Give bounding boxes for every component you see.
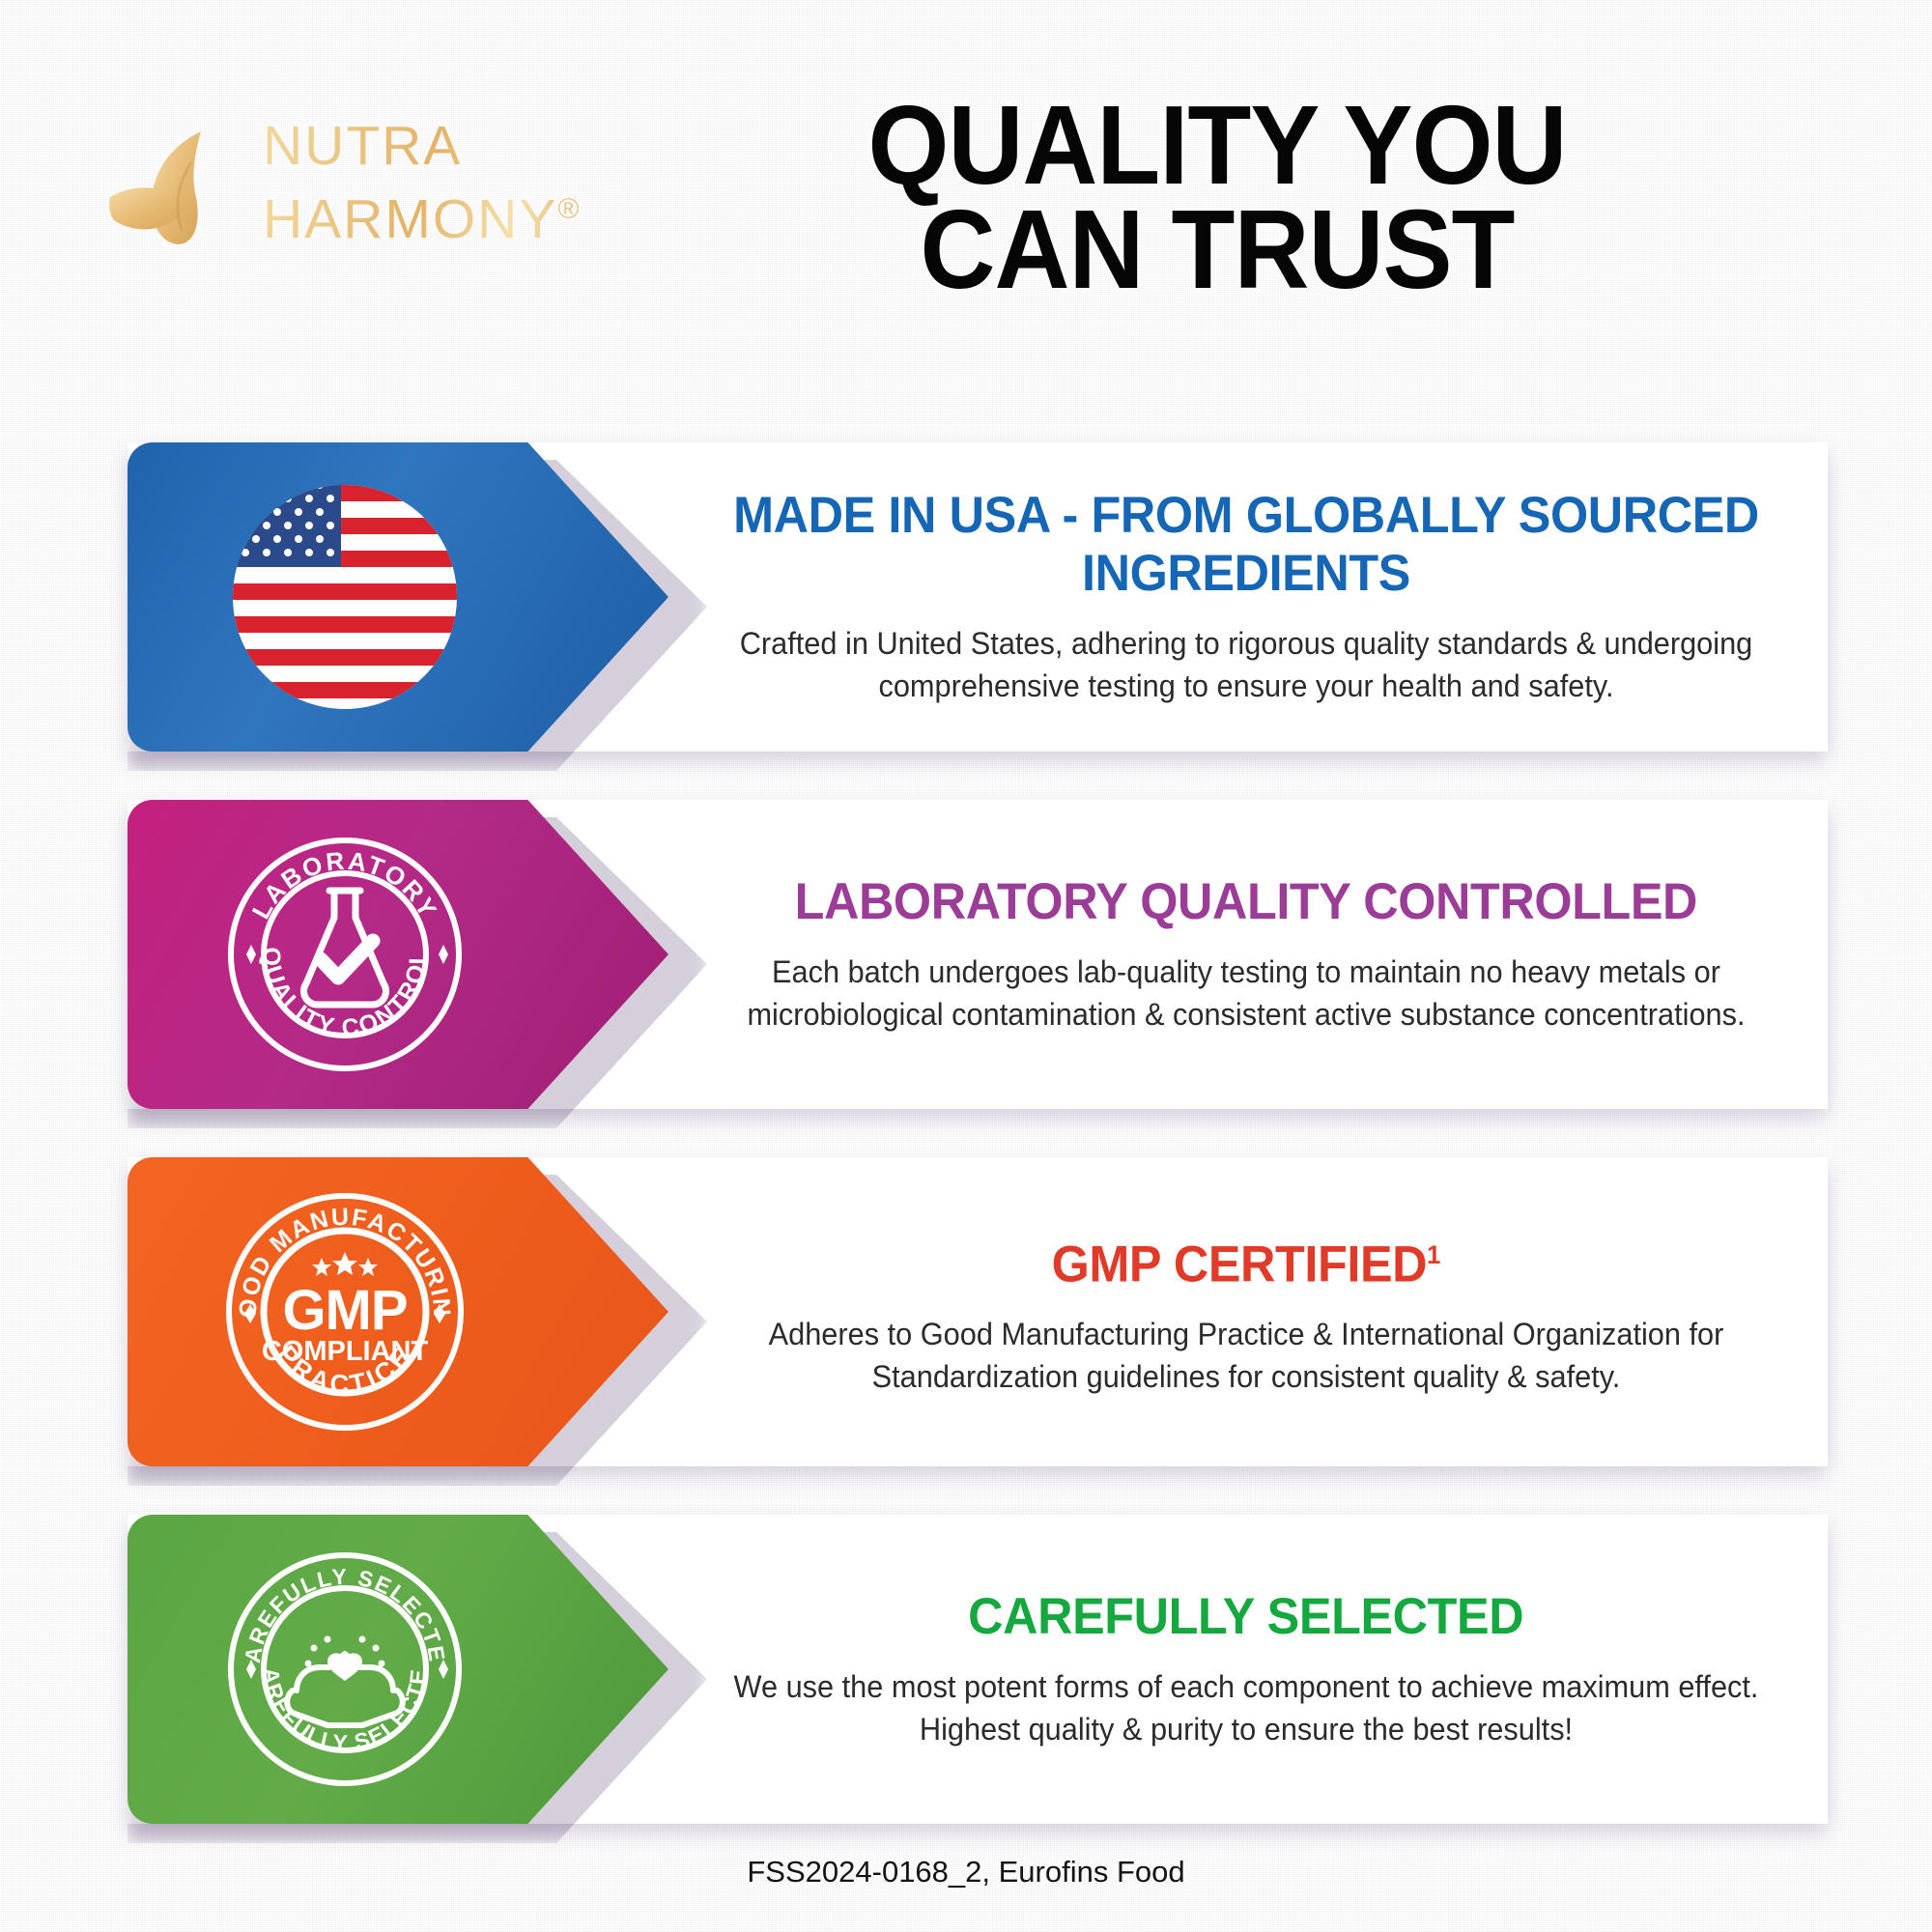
svg-text:GMP: GMP [282,1279,407,1342]
svg-text:COMPLIANT: COMPLIANT [262,1336,429,1367]
lab-flask-check-seal-icon: LABORATORY QUALITY CONTROL [221,831,469,1078]
usa-flag-circle-icon [221,473,469,721]
header: NUTRA HARMONY® QUALITY YOU CAN TRUST [0,0,1932,367]
card-description: We use the most potent forms of each com… [731,1665,1761,1750]
card-text: CAREFULLY SELECTED We use the most poten… [676,1515,1816,1824]
hands-heart-seal-icon: CAREFULLY SELECTED CAREFULLY SELECTED [221,1546,469,1793]
svg-text:LABORATORY: LABORATORY [246,845,444,923]
page-title: QUALITY YOU CAN TRUST [660,93,1774,301]
card-text: GMP CERTIFIED1 Adheres to Good Manufactu… [676,1157,1816,1466]
card-description: Each batch undergoes lab-quality testing… [731,951,1761,1036]
page-title-line-1: QUALITY YOU [660,93,1774,197]
card-text: LABORATORY QUALITY CONTROLLED Each batch… [676,800,1816,1109]
svg-text:CAREFULLY SELECTED: CAREFULLY SELECTED [221,1546,450,1664]
footnote-marker: 1 [1427,1240,1440,1269]
card-carefully-selected: CAREFULLY SELECTED CAREFULLY SELECTED [0,1515,1932,1843]
card-title: CAREFULLY SELECTED [968,1588,1523,1646]
card-description: Adheres to Good Manufacturing Practice &… [731,1313,1761,1398]
logo-line-2: HARMONY® [263,178,649,251]
leaf-icon [108,128,263,255]
infographic-page: NUTRA HARMONY® QUALITY YOU CAN TRUST [0,0,1932,1932]
benefit-cards: MADE IN USA - FROM GLOBALLY SOURCED INGR… [0,442,1932,1872]
page-title-line-2: CAN TRUST [660,197,1774,301]
card-title: MADE IN USA - FROM GLOBALLY SOURCED INGR… [726,487,1765,603]
card-laboratory-quality-controlled: LABORATORY QUALITY CONTROL [0,800,1932,1128]
card-gmp-certified: GOOD MANUFACTURING PRACTICE GMP [0,1157,1932,1486]
logo-line-1: NUTRA [263,114,649,178]
footer-note: FSS2024-0168_2, Eurofins Food [0,1855,1932,1889]
card-title: GMP CERTIFIED1 [1052,1226,1440,1294]
card-text: MADE IN USA - FROM GLOBALLY SOURCED INGR… [676,442,1816,752]
card-description: Crafted in United States, adhering to ri… [731,622,1761,707]
card-made-in-usa: MADE IN USA - FROM GLOBALLY SOURCED INGR… [0,442,1932,771]
card-title: LABORATORY QUALITY CONTROLLED [795,873,1697,931]
gmp-compliant-seal-icon: GOOD MANUFACTURING PRACTICE GMP [221,1188,469,1435]
brand-logo: NUTRA HARMONY® [108,114,649,269]
registered-mark: ® [557,193,581,225]
